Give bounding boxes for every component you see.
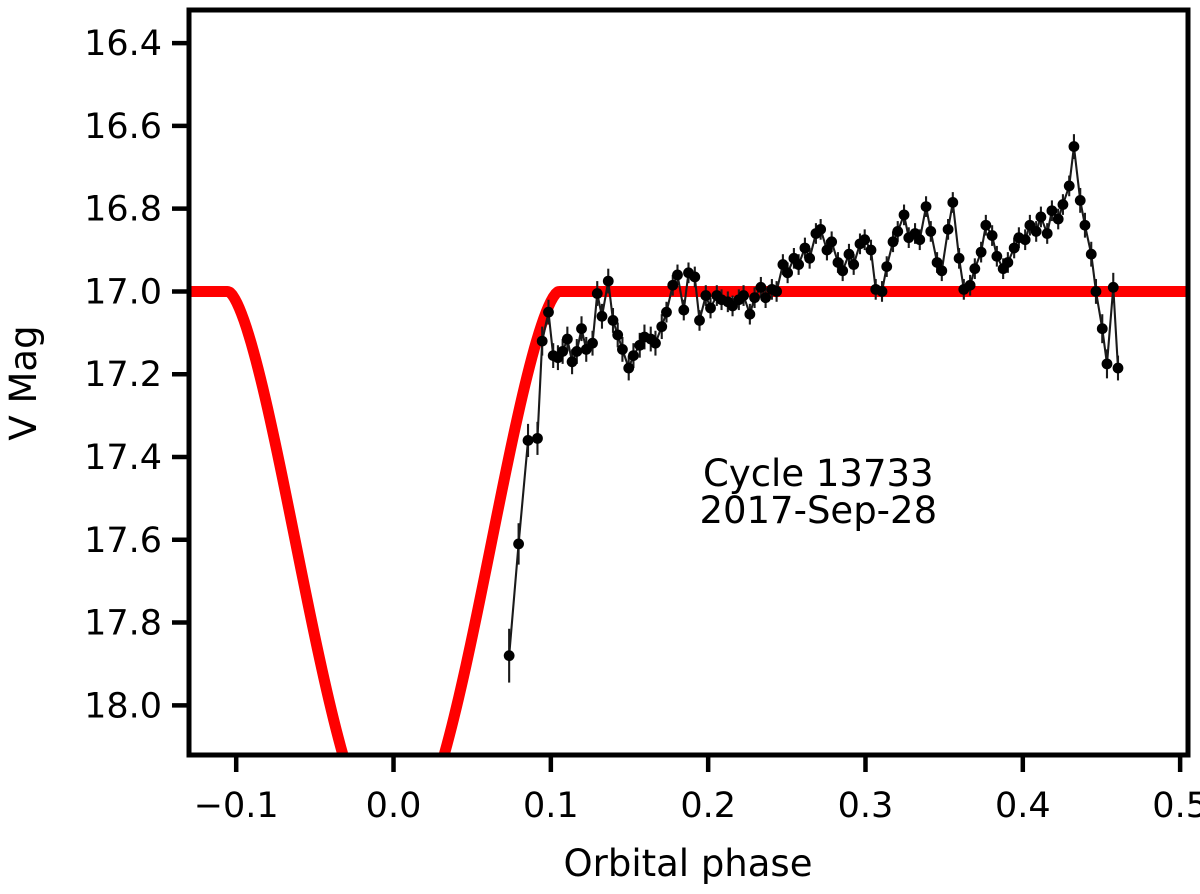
- data-point: [1097, 323, 1108, 334]
- data-point: [623, 363, 634, 374]
- y-tick-label: 17.2: [84, 355, 162, 395]
- data-point: [804, 253, 815, 264]
- data-point: [1075, 195, 1086, 206]
- data-point: [523, 435, 534, 446]
- y-tick-label: 17.4: [84, 438, 162, 478]
- data-point: [976, 247, 987, 258]
- data-point: [678, 305, 689, 316]
- data-point: [987, 230, 998, 241]
- y-tick-label: 16.4: [84, 24, 162, 64]
- data-point: [947, 197, 958, 208]
- data-point: [965, 280, 976, 291]
- data-point: [877, 286, 888, 297]
- data-point: [1080, 220, 1091, 231]
- data-point: [1002, 257, 1013, 268]
- data-point: [921, 201, 932, 212]
- data-point: [656, 321, 667, 332]
- data-point: [793, 259, 804, 270]
- data-point: [597, 311, 608, 322]
- y-tick-label: 17.8: [84, 604, 162, 644]
- light-curve-chart: −0.10.00.10.20.30.40.5 16.416.616.817.01…: [0, 0, 1200, 894]
- x-tick-label: 0.4: [995, 786, 1051, 826]
- y-tick-label: 16.8: [84, 190, 162, 230]
- data-point: [800, 243, 811, 254]
- data-point: [771, 286, 782, 297]
- y-tick-label: 16.6: [84, 107, 162, 147]
- x-tick-label: 0.5: [1152, 786, 1200, 826]
- data-point: [537, 336, 548, 347]
- data-point: [1020, 234, 1031, 245]
- data-point: [587, 338, 598, 349]
- y-axis-title: V Mag: [2, 325, 45, 440]
- data-point: [612, 330, 623, 341]
- data-point: [914, 234, 925, 245]
- data-point: [628, 350, 639, 361]
- data-point: [892, 226, 903, 237]
- figure-canvas: −0.10.00.10.20.30.40.5 16.416.616.817.01…: [0, 0, 1200, 894]
- data-point: [592, 288, 603, 299]
- data-point: [543, 307, 554, 318]
- x-tick-label: 0.2: [680, 786, 736, 826]
- data-point: [954, 253, 965, 264]
- data-point: [881, 261, 892, 272]
- data-point: [943, 224, 954, 235]
- y-tick-label: 18.0: [84, 686, 162, 726]
- data-point: [866, 245, 877, 256]
- y-tick-label: 17.0: [84, 272, 162, 312]
- x-tick-label: 0.0: [366, 786, 422, 826]
- data-point: [859, 234, 870, 245]
- data-point: [1113, 363, 1124, 374]
- data-point: [936, 265, 947, 276]
- data-point: [504, 650, 515, 661]
- data-point: [925, 226, 936, 237]
- data-point: [1108, 282, 1119, 293]
- data-point: [650, 338, 661, 349]
- data-point: [991, 251, 1002, 262]
- data-point: [848, 259, 859, 270]
- data-point: [571, 346, 582, 357]
- data-point: [705, 303, 716, 314]
- data-point: [782, 267, 793, 278]
- data-point: [899, 209, 910, 220]
- data-point: [1069, 141, 1080, 152]
- chart-background: [0, 0, 1200, 894]
- data-point: [837, 265, 848, 276]
- y-tick-label: 17.6: [84, 521, 162, 561]
- data-point: [694, 315, 705, 326]
- data-point: [980, 220, 991, 231]
- data-point: [667, 280, 678, 291]
- data-point: [576, 323, 587, 334]
- data-point: [844, 249, 855, 260]
- data-point: [532, 433, 543, 444]
- data-point: [1042, 228, 1053, 239]
- data-point: [1064, 181, 1075, 192]
- data-point: [1031, 226, 1042, 237]
- annotation-date: 2017-Sep-28: [699, 489, 937, 532]
- data-point: [513, 539, 524, 550]
- data-point: [661, 307, 672, 318]
- data-point: [562, 334, 573, 345]
- y-axis-tick-labels: 16.416.616.817.017.217.417.617.818.0: [84, 24, 162, 726]
- data-point: [1009, 243, 1020, 254]
- data-point: [1086, 249, 1097, 260]
- data-point: [608, 315, 619, 326]
- x-tick-label: −0.1: [194, 786, 279, 826]
- data-point: [1058, 199, 1069, 210]
- data-point: [738, 290, 749, 301]
- data-point: [1102, 358, 1113, 369]
- data-point: [617, 344, 628, 355]
- data-point: [749, 292, 760, 303]
- x-axis-title: Orbital phase: [564, 842, 813, 885]
- data-point: [672, 269, 683, 280]
- data-point: [1053, 214, 1064, 225]
- data-point: [700, 290, 711, 301]
- data-point: [1091, 286, 1102, 297]
- x-tick-label: 0.1: [523, 786, 579, 826]
- data-point: [888, 236, 899, 247]
- data-point: [969, 263, 980, 274]
- data-point: [567, 356, 578, 367]
- data-point: [744, 309, 755, 320]
- x-tick-label: 0.3: [838, 786, 894, 826]
- data-point: [826, 236, 837, 247]
- data-point: [755, 282, 766, 293]
- data-point: [689, 272, 700, 283]
- data-point: [815, 224, 826, 235]
- data-point: [603, 276, 614, 287]
- data-point: [557, 346, 568, 357]
- data-point: [1036, 212, 1047, 223]
